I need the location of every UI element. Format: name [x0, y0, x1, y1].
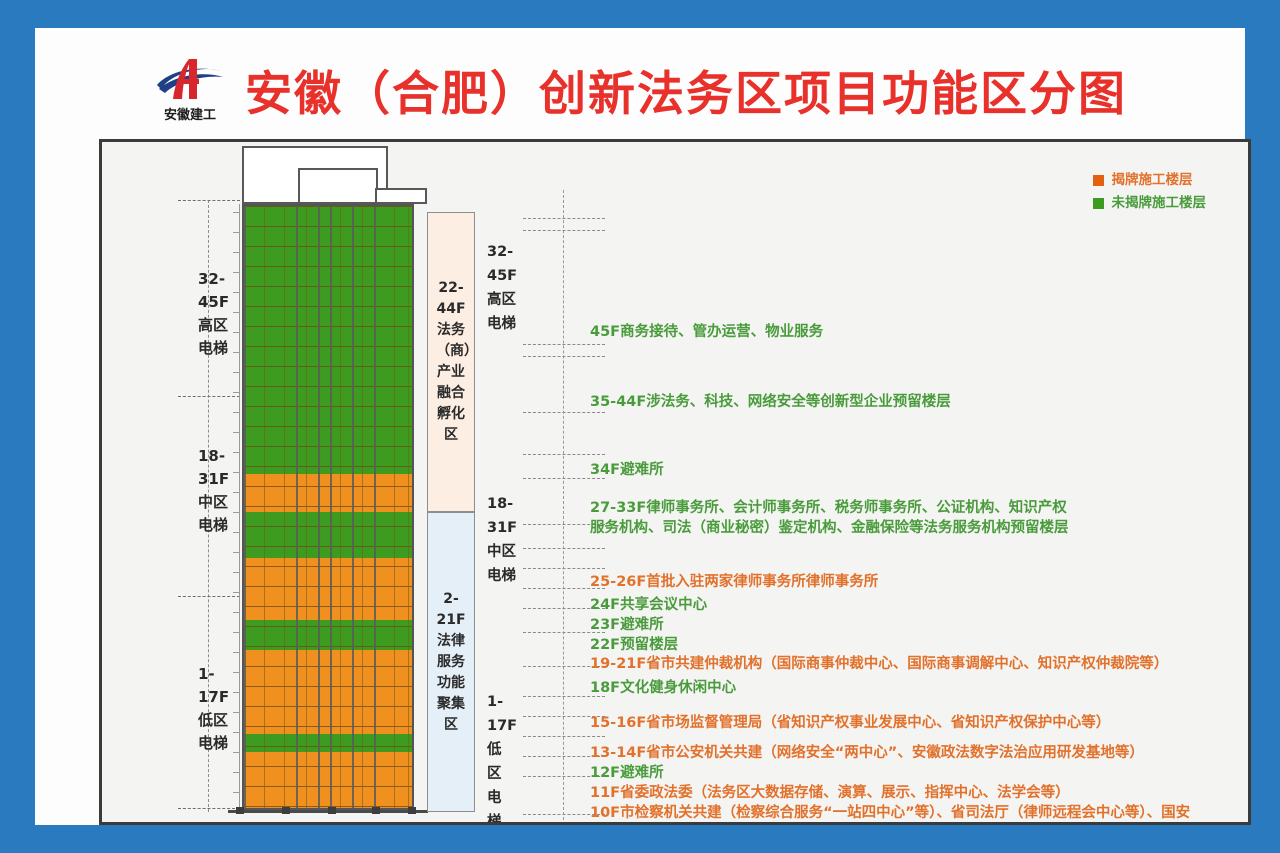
zone-line: 孵化: [436, 404, 466, 425]
floor-slab-line: [244, 526, 412, 527]
building-footing: [236, 807, 244, 814]
zone-line: 32-: [487, 240, 527, 264]
floor-note: 45F商务接待、管办运营、物业服务: [590, 322, 823, 342]
zone-box-incubation: 22- 44F 法务 （商） 产业 融合 孵化 区: [427, 212, 475, 512]
floor-slab-line: [244, 686, 412, 687]
facade-mullion: [362, 206, 363, 808]
floor-note: 服务机构、司法（商业秘密）鉴定机构、金融保险等法务服务机构预留楼层: [590, 518, 1069, 538]
facade-mullion: [306, 206, 307, 808]
floor-note: 35-44F涉法务、科技、网络安全等创新型企业预留楼层: [590, 392, 951, 412]
zone-line: 功能: [436, 673, 466, 694]
floor-slab-line: [244, 766, 412, 767]
facade-mullion: [264, 206, 265, 808]
structural-column: [330, 206, 332, 808]
floor-note: 27-33F律师事务所、会计师事务所、税务师事务所、公证机构、知识产权: [590, 498, 1067, 518]
floor-function-notes: 45F商务接待、管办运营、物业服务35-44F涉法务、科技、网络安全等创新型企业…: [590, 190, 1251, 825]
floor-note: 10F市检察机关共建（检察综合服务“一站四中心”等）、省司法厅（律师远程会中心等…: [590, 803, 1190, 823]
functional-zone-boxes: 22- 44F 法务 （商） 产业 融合 孵化 区 2- 21F 法律: [427, 212, 475, 812]
zone-line: 21F: [436, 610, 466, 631]
building-footing: [282, 807, 290, 814]
floor-slab-line: [244, 546, 412, 547]
structural-column: [296, 206, 298, 808]
zone-line: （商）: [436, 341, 466, 362]
floor-slab-line: [244, 286, 412, 287]
floor-slab-line: [244, 706, 412, 707]
zone-line: 区: [436, 715, 466, 736]
floor-slab-line: [244, 666, 412, 667]
floor-note: 15-16F省市场监督管理局（省知识产权事业发展中心、省知识产权保护中心等）: [590, 713, 1110, 733]
floor-note: 23F避难所: [590, 615, 664, 635]
zone-line: 44F: [436, 299, 466, 320]
facade-mullion: [408, 206, 409, 808]
floor-note: 34F避难所: [590, 460, 664, 480]
floor-slab-line: [244, 626, 412, 627]
floor-band-orange: [244, 752, 412, 810]
zone-line: 融合: [436, 383, 466, 404]
zone-line: 低: [487, 738, 509, 762]
floor-slab-line: [244, 486, 412, 487]
zone-line: 电梯: [487, 312, 527, 336]
floor-note: 13-14F省市公安机关共建（网络安全“两中心”、安徽政法数字法治应用研发基地等…: [590, 743, 1144, 763]
floor-slab-line: [244, 386, 412, 387]
zone-line: 2-: [436, 589, 466, 610]
floor-band-green: [244, 734, 412, 752]
mid-elevator-axis: 32- 45F 高区 电梯 18- 31F 中区 电梯 1- 17F 低 区 电: [487, 190, 597, 820]
facade-mullion: [340, 206, 341, 808]
floor-slab-line: [244, 206, 412, 207]
zone-line: 聚集: [436, 694, 466, 715]
floor-slab-line: [244, 746, 412, 747]
roof-machine-room: [298, 168, 378, 204]
floor-slab-line: [244, 506, 412, 507]
structural-column: [352, 206, 354, 808]
facade-mullion: [284, 206, 285, 808]
mid-axis-line: [563, 190, 564, 820]
floor-slab-line: [244, 466, 412, 467]
mid-axis-zone-mid: 18- 31F 中区 电梯: [487, 492, 527, 588]
floor-slab-line: [244, 786, 412, 787]
poster-paper: 安徽建工 安徽（合肥）创新法务区项目功能区分图 揭牌施工楼层 未揭牌施工楼层: [35, 28, 1245, 825]
zone-box-text: 22- 44F 法务 （商） 产业 融合 孵化 区: [436, 278, 466, 446]
anhui-construction-logo: 安徽建工: [153, 55, 227, 123]
logo-label: 安徽建工: [153, 104, 227, 123]
floor-slab-line: [244, 406, 412, 407]
poster-header: 安徽建工 安徽（合肥）创新法务区项目功能区分图: [35, 50, 1245, 128]
legend-item-unveiled: 揭牌施工楼层: [1093, 170, 1207, 190]
building-floor-stack: [242, 204, 414, 810]
zone-line: 电梯: [487, 564, 527, 588]
zone-line: 17F: [487, 714, 509, 738]
floor-slab-line: [244, 226, 412, 227]
floor-note: 22F预留楼层: [590, 635, 678, 655]
floor-slab-line: [244, 726, 412, 727]
floor-slab-line: [244, 566, 412, 567]
structural-column: [374, 206, 376, 808]
mid-axis-zone-low: 1- 17F 低 区 电 梯: [487, 690, 509, 825]
floor-band-green: [244, 512, 412, 558]
logo-mark-icon: [153, 55, 227, 103]
zone-line: 法务: [436, 320, 466, 341]
zone-line: 45F: [487, 264, 527, 288]
zone-line: 22-: [436, 278, 466, 299]
floor-note: 8F-9F省司法厅（省行政复议应诉中心、省法律援助中心等）: [590, 823, 984, 825]
zone-line: 高区: [487, 288, 527, 312]
floor-slab-line: [244, 586, 412, 587]
floor-slab-line: [244, 606, 412, 607]
zone-line: 31F: [487, 516, 527, 540]
floor-slab-line: [244, 646, 412, 647]
page-title: 安徽（合肥）创新法务区项目功能区分图: [245, 55, 1127, 124]
building-footing: [328, 807, 336, 814]
diagram-frame: 揭牌施工楼层 未揭牌施工楼层 32- 45F 高区 电梯: [99, 139, 1251, 825]
zone-line: 中区: [487, 540, 527, 564]
building-footing: [408, 807, 416, 814]
facade-mullion: [394, 206, 395, 808]
zone-line: 18-: [487, 492, 527, 516]
floor-band-orange: [244, 650, 412, 734]
structural-column: [244, 206, 246, 808]
floor-slab-line: [244, 246, 412, 247]
zone-line: 区: [436, 425, 466, 446]
floor-note: 25-26F首批入驻两家律师事务所律师事务所: [590, 572, 878, 592]
floor-slab-line: [244, 346, 412, 347]
zone-line: 1-: [487, 690, 509, 714]
floor-slab-line: [244, 306, 412, 307]
zone-line: 服务: [436, 652, 466, 673]
floor-note: 12F避难所: [590, 763, 664, 783]
structural-column: [318, 206, 320, 808]
zone-box-text: 2- 21F 法律 服务 功能 聚集 区: [436, 589, 466, 736]
zone-box-legal-services: 2- 21F 法律 服务 功能 聚集 区: [427, 512, 475, 812]
roof-parapet-right: [375, 188, 427, 204]
zone-line: 区: [487, 762, 509, 786]
floor-slab-line: [244, 266, 412, 267]
floor-note: 19-21F省市共建仲裁机构（国际商事仲裁中心、国际商事调解中心、知识产权仲裁院…: [590, 654, 1168, 674]
legend-label-unveiled: 揭牌施工楼层: [1112, 170, 1193, 190]
floor-note: 18F文化健身休闲中心: [590, 678, 736, 698]
zone-line: 产业: [436, 362, 466, 383]
floor-slab-line: [244, 326, 412, 327]
poster-root: 安徽建工 安徽（合肥）创新法务区项目功能区分图 揭牌施工楼层 未揭牌施工楼层: [0, 0, 1280, 853]
building-elevation-drawing: [220, 142, 435, 822]
zone-line: 法律: [436, 631, 466, 652]
legend-swatch-orange: [1093, 175, 1104, 186]
zone-line: 梯: [487, 810, 509, 825]
building-footing: [372, 807, 380, 814]
mid-axis-zone-high: 32- 45F 高区 电梯: [487, 240, 527, 336]
floor-slab-line: [244, 366, 412, 367]
floor-note: 24F共享会议中心: [590, 595, 707, 615]
building-floor-ruler: [230, 204, 240, 810]
floor-slab-line: [244, 446, 412, 447]
floor-slab-line: [244, 426, 412, 427]
floor-band-orange: [244, 558, 412, 620]
floor-note: 11F省委政法委（法务区大数据存储、演算、展示、指挥中心、法学会等）: [590, 783, 1070, 803]
zone-line: 电: [487, 786, 509, 810]
